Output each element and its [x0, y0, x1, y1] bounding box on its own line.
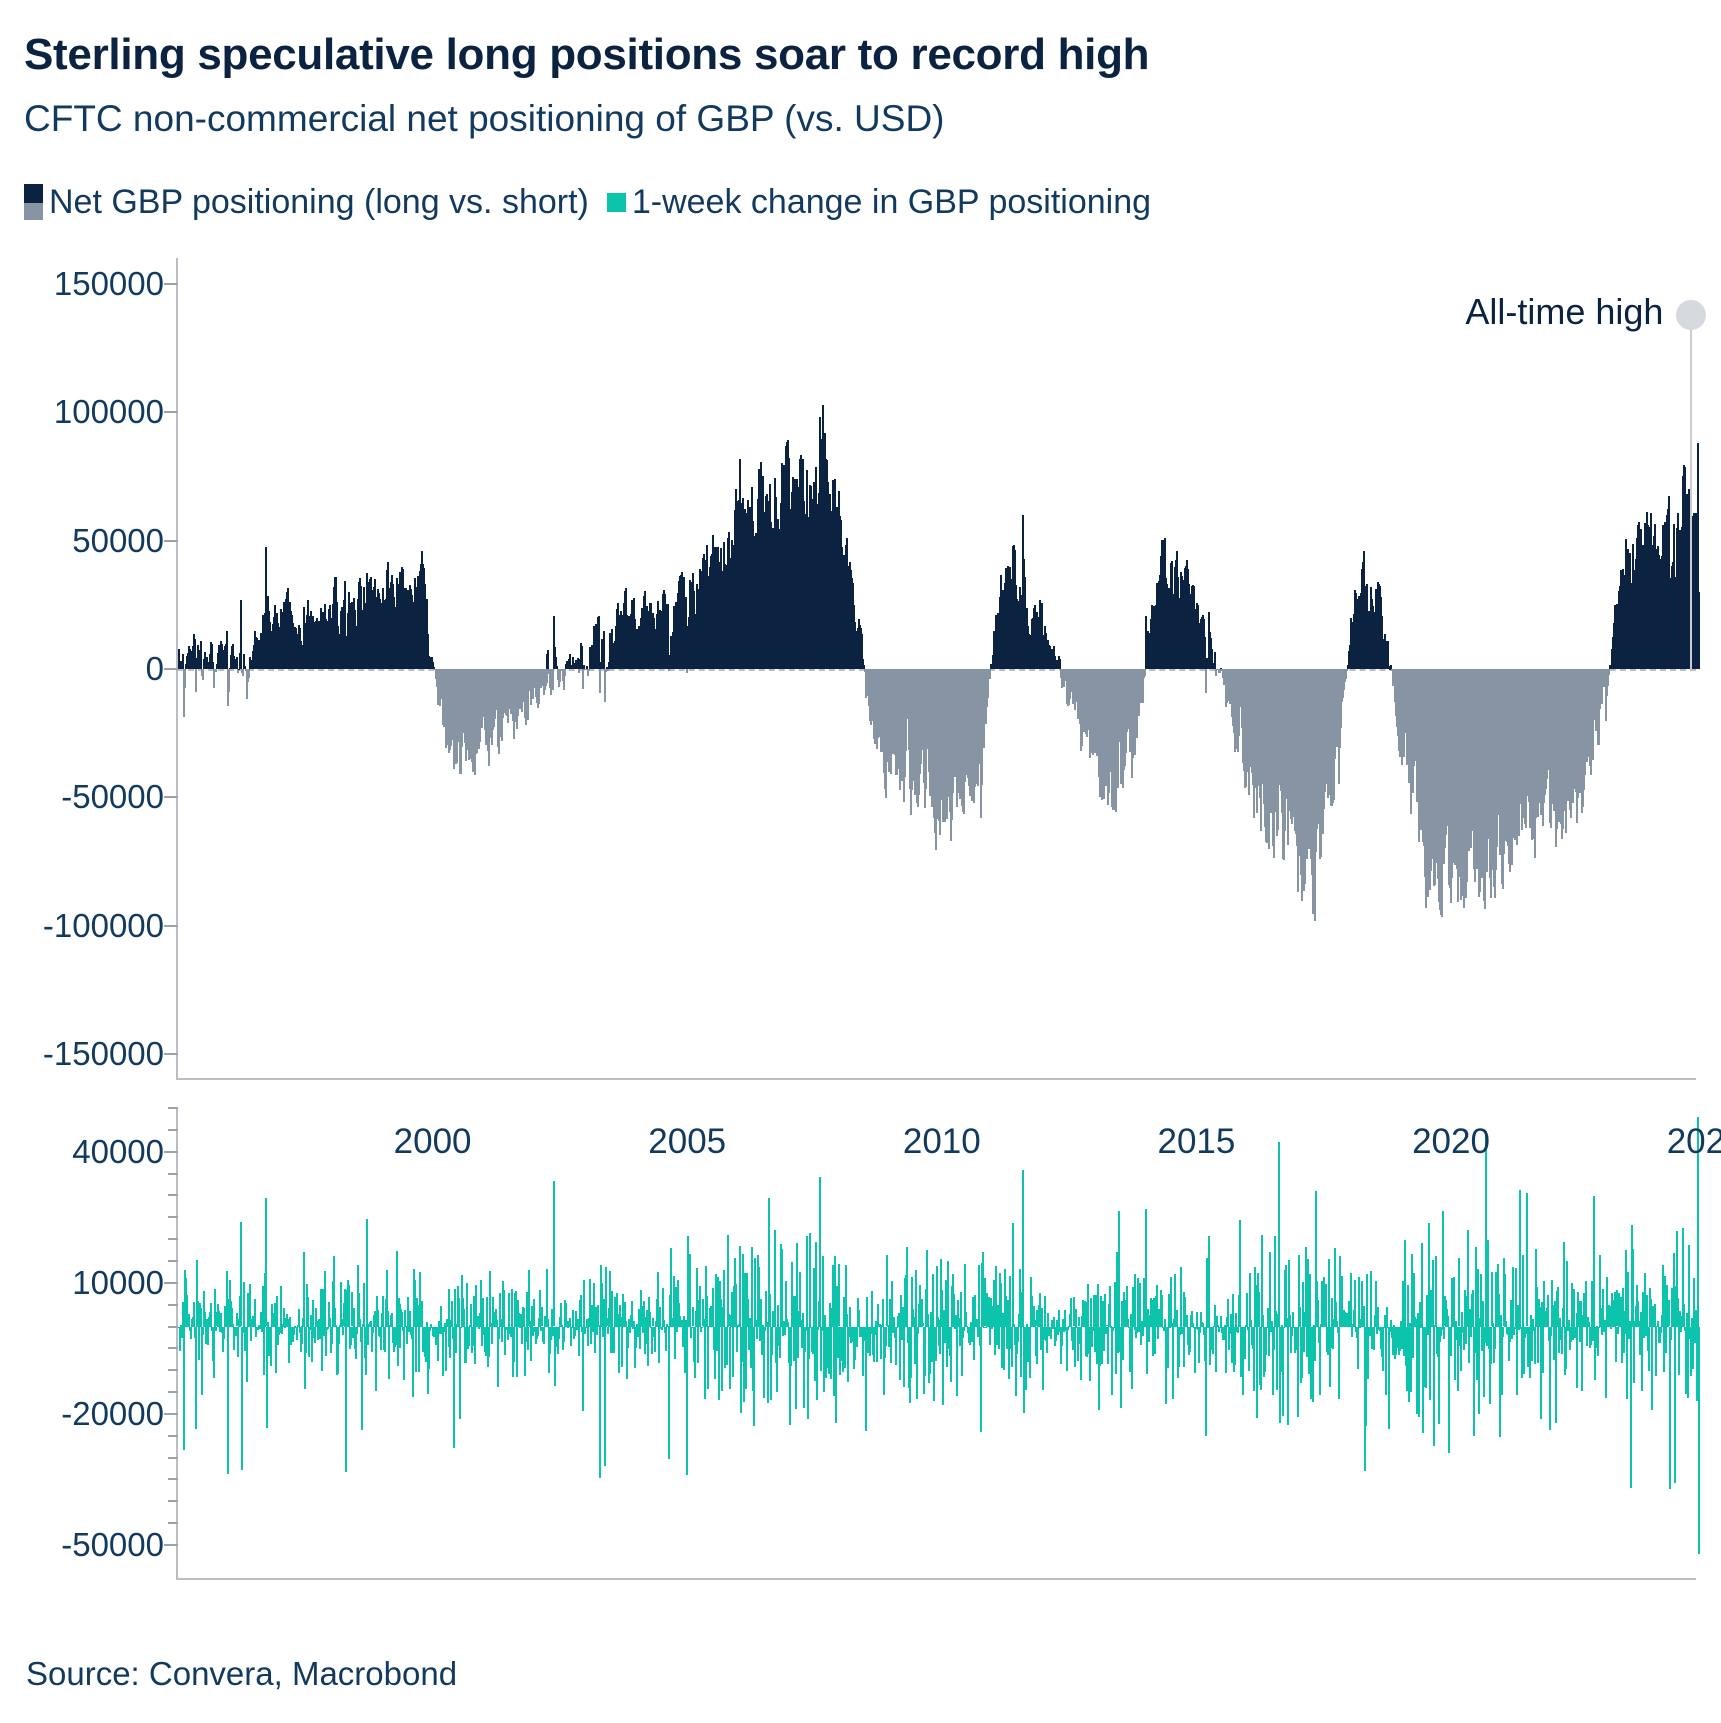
chart-bar: [226, 631, 228, 669]
chart-bar: [193, 1302, 195, 1326]
chart-bar: [1214, 652, 1216, 669]
chart-bar: [1461, 1312, 1463, 1326]
chart-bar: [296, 1327, 298, 1341]
chart-bar: [449, 1327, 451, 1359]
chart-bar: [676, 1327, 678, 1332]
chart-bar: [202, 669, 204, 680]
legend-item-weekly-change[interactable]: 1-week change in GBP positioning: [607, 183, 1151, 222]
x-axis-label: 2005: [648, 1122, 726, 1162]
chart-bar: [1357, 1327, 1359, 1370]
chart-bar: [1610, 1327, 1612, 1330]
chart-bar: [236, 657, 238, 669]
chart-bar: [1258, 1292, 1260, 1326]
chart-bar: [1421, 1243, 1423, 1326]
chart-bar: [751, 1247, 753, 1326]
chart-bar: [1161, 1295, 1163, 1327]
chart-bar: [604, 1327, 606, 1467]
chart-bar: [1003, 1327, 1005, 1371]
chart-bar: [570, 1327, 572, 1347]
chart-bar: [1450, 1327, 1452, 1356]
chart-bar: [838, 1264, 840, 1326]
chart-bar: [1432, 1260, 1434, 1327]
all-time-high-marker[interactable]: [1676, 300, 1706, 330]
chart-bar: [754, 1258, 756, 1327]
chart-bar: [1309, 1274, 1311, 1326]
chart-bar: [468, 1327, 470, 1346]
chart-bar: [547, 650, 549, 669]
y-axis-label: 50000: [72, 522, 178, 560]
y-axis-minor-tick: [168, 1260, 178, 1262]
chart-bar: [190, 1327, 192, 1339]
chart-bar: [885, 1327, 887, 1346]
chart-bar: [718, 1327, 720, 1401]
chart-bar: [541, 1307, 543, 1326]
chart-bar: [1074, 1327, 1076, 1367]
chart-bar: [1350, 1273, 1352, 1327]
chart-bar: [1655, 1327, 1657, 1377]
chart-bar: [403, 1327, 405, 1381]
chart-bar: [1183, 1327, 1185, 1368]
chart-bar: [511, 1289, 513, 1327]
chart-bar: [1670, 1327, 1672, 1341]
chart-bar: [1011, 1327, 1013, 1367]
chart-bar: [1253, 1327, 1255, 1392]
chart-bar: [240, 1222, 242, 1326]
chart-bar: [686, 1327, 688, 1476]
chart-bar: [1186, 1315, 1188, 1327]
chart-bar: [325, 1327, 327, 1357]
chart-bar: [503, 1290, 505, 1327]
y-axis-label: -50000: [61, 1526, 178, 1564]
y-axis-minor-tick: [168, 1522, 178, 1524]
chart-bar: [1526, 1193, 1528, 1326]
chart-bar: [1291, 1327, 1293, 1337]
chart-bar: [345, 1327, 347, 1473]
chart-bar: [686, 669, 688, 673]
chart-bar: [739, 1246, 741, 1326]
chart-bar: [1022, 1170, 1024, 1326]
chart-bar: [451, 1301, 453, 1327]
x-axis-label: 2000: [394, 1122, 472, 1162]
chart-bar: [1359, 1327, 1361, 1328]
y-axis-label: 40000: [72, 1133, 178, 1171]
main-chart-panel: 150000100000500000-50000-100000-150000Al…: [176, 258, 1696, 1080]
chart-bar: [223, 1327, 225, 1339]
chart-bar: [1346, 669, 1348, 671]
chart-bar: [1107, 1327, 1109, 1364]
chart-bar: [342, 1327, 344, 1336]
chart-bar: [1443, 1327, 1445, 1339]
chart-bar: [1654, 1304, 1656, 1327]
chart-bar: [1134, 1274, 1136, 1326]
chart-bar: [774, 1230, 776, 1326]
y-axis-label: -50000: [61, 778, 178, 816]
legend-label-weekly-change: 1-week change in GBP positioning: [632, 183, 1151, 222]
y-axis-minor-tick: [168, 1347, 178, 1349]
chart-bar: [1388, 1327, 1390, 1430]
chart-bar: [690, 1327, 692, 1338]
chart-bar: [498, 1327, 500, 1340]
chart-bar: [1297, 1327, 1299, 1418]
main-plot-area: 150000100000500000-50000-100000-150000Al…: [178, 258, 1696, 1078]
chart-bar: [927, 1314, 929, 1326]
chart-bar: [665, 1327, 667, 1351]
chart-bar: [916, 1327, 918, 1400]
chart-bar: [491, 1327, 493, 1344]
chart-bar: [910, 1327, 912, 1378]
chart-bar: [1665, 1327, 1667, 1354]
chart-bar: [704, 1327, 706, 1399]
legend-swatch-stacked-icon: [24, 184, 43, 220]
chart-bar: [1009, 1276, 1011, 1326]
chart-bar: [1605, 1327, 1607, 1399]
chart-bar: [305, 1327, 307, 1354]
chart-bar: [1627, 1272, 1629, 1326]
chart-bar: [1688, 1245, 1690, 1327]
chart-bar: [1576, 1327, 1578, 1388]
chart-bar: [771, 1327, 773, 1355]
chart-bar: [1651, 1327, 1653, 1411]
y-axis-label: 150000: [54, 265, 178, 303]
chart-bar: [1683, 1304, 1685, 1327]
chart-bar: [276, 1296, 278, 1326]
chart-bar: [353, 1308, 355, 1327]
chart-bar: [1385, 1327, 1387, 1396]
chart-bar: [1630, 1327, 1632, 1488]
chart-bar: [1373, 1327, 1375, 1350]
chart-bar: [1617, 1327, 1619, 1335]
chart-bar: [183, 1327, 185, 1450]
chart-bar: [215, 1327, 217, 1332]
chart-bar: [582, 669, 584, 689]
chart-bar: [886, 1255, 888, 1326]
chart-bar: [806, 1236, 808, 1327]
chart-bar: [397, 1327, 399, 1366]
chart-bar: [455, 1327, 457, 1354]
chart-bar: [1680, 1327, 1682, 1333]
chart-bar: [1261, 1235, 1263, 1327]
chart-bar: [1418, 1327, 1420, 1417]
x-axis-label: 2010: [903, 1122, 981, 1162]
chart-bar: [699, 1286, 701, 1326]
chart-bar: [380, 1327, 382, 1350]
chart-bar: [1194, 1327, 1196, 1374]
chart-bar: [284, 1327, 286, 1328]
chart-bar: [784, 1327, 786, 1335]
chart-bar: [210, 1303, 212, 1326]
y-axis-minor-tick: [168, 1457, 178, 1459]
chart-bar: [1559, 1318, 1561, 1327]
chart-bar: [893, 1317, 895, 1326]
chart-bar: [858, 1310, 860, 1326]
chart-bar: [409, 1311, 411, 1326]
chart-bar: [215, 669, 217, 672]
chart-bar: [1519, 1190, 1521, 1327]
chart-bar: [639, 1327, 641, 1349]
chart-bar: [418, 1327, 420, 1372]
chart-bar: [1154, 1327, 1156, 1354]
chart-bar: [240, 600, 242, 669]
chart-bar: [1148, 1327, 1150, 1342]
chart-bar: [1273, 1327, 1275, 1351]
chart-bar: [265, 1198, 267, 1326]
chart-bar: [307, 1297, 309, 1326]
y-axis-minor-tick: [168, 1194, 178, 1196]
y-axis-minor-tick: [168, 1435, 178, 1437]
chart-bar: [1478, 1327, 1480, 1415]
chart-bar: [1279, 1327, 1281, 1424]
chart-bar: [1189, 1327, 1191, 1352]
chart-legend: Net GBP positioning (long vs. short) 1-w…: [24, 180, 1151, 224]
chart-bar: [363, 1283, 365, 1326]
chart-bar: [463, 1309, 465, 1326]
chart-bar: [779, 1327, 781, 1359]
chart-bar: [1425, 1327, 1427, 1388]
chart-bar: [1363, 1306, 1365, 1327]
subchart-plot-area: 4000010000-20000-50000200020052010201520…: [178, 1108, 1696, 1578]
chart-bar: [1287, 1327, 1289, 1425]
chart-bar: [201, 1327, 203, 1396]
chart-bar: [314, 1327, 316, 1343]
chart-bar: [207, 1327, 209, 1345]
chart-bar: [399, 1327, 401, 1349]
chart-bar: [1170, 1277, 1172, 1327]
chart-bar: [973, 1327, 975, 1360]
chart-bar: [195, 1327, 197, 1429]
chart-bar: [521, 1327, 523, 1344]
chart-bar: [1390, 1320, 1392, 1327]
chart-bar: [1407, 1285, 1409, 1326]
chart-bar: [195, 669, 197, 692]
chart-bar: [1598, 1327, 1600, 1328]
chart-bar: [559, 669, 561, 682]
chart-bar: [1668, 1300, 1670, 1326]
chart-bar: [1319, 1327, 1321, 1395]
chart-bar: [324, 1271, 326, 1326]
chart-bar: [504, 1327, 506, 1356]
chart-bar: [652, 1318, 654, 1327]
y-axis-label: -150000: [43, 1035, 178, 1073]
chart-bar: [1260, 1327, 1262, 1391]
chart-bar: [546, 669, 548, 683]
chart-bar: [1573, 1289, 1575, 1326]
chart-bar: [280, 1286, 282, 1327]
chart-bar: [611, 1291, 613, 1326]
legend-label-net-positioning: Net GBP positioning (long vs. short): [49, 183, 589, 222]
legend-item-net-positioning[interactable]: Net GBP positioning (long vs. short): [24, 183, 589, 222]
chart-bar: [1059, 659, 1061, 669]
chart-bar: [387, 1311, 389, 1326]
chart-bar: [642, 1327, 644, 1334]
chart-bar: [537, 1327, 539, 1337]
chart-bar: [1633, 1327, 1635, 1383]
chart-bar: [184, 669, 186, 688]
chart-bar: [694, 1327, 696, 1379]
page-subtitle: CFTC non-commercial net positioning of G…: [24, 98, 945, 140]
chart-bar: [1127, 1319, 1129, 1327]
chart-bar: [1276, 1327, 1278, 1391]
chart-bar: [1227, 1299, 1229, 1327]
chart-bar: [1237, 1327, 1239, 1333]
chart-bar: [388, 1327, 390, 1379]
chart-bar: [849, 1307, 851, 1327]
chart-bar: [582, 1327, 584, 1412]
chart-bar: [488, 1327, 490, 1357]
chart-bar: [1208, 1236, 1210, 1326]
chart-bar: [248, 669, 250, 678]
chart-bar: [415, 1327, 417, 1373]
y-axis-minor-tick: [168, 1304, 178, 1306]
chart-bar: [1230, 1314, 1232, 1326]
chart-bar: [903, 1327, 905, 1388]
chart-bar: [1608, 669, 1610, 675]
chart-bar: [1176, 1310, 1178, 1327]
chart-bar: [802, 1313, 804, 1326]
chart-bar: [404, 1310, 406, 1326]
chart-bar: [1303, 1327, 1305, 1352]
chart-bar: [202, 1327, 204, 1336]
chart-bar: [421, 1301, 423, 1327]
chart-bar: [960, 1292, 962, 1326]
chart-bar: [553, 1181, 555, 1326]
chart-bar: [1249, 1273, 1251, 1327]
chart-bar: [1547, 1295, 1549, 1326]
chart-bar: [1470, 1327, 1472, 1338]
chart-bar: [1080, 1327, 1082, 1381]
chart-bar: [1139, 1283, 1141, 1326]
chart-bar: [489, 1271, 491, 1326]
chart-bar: [726, 1327, 728, 1365]
y-axis-label: -20000: [61, 1395, 178, 1433]
chart-bar: [523, 1308, 525, 1327]
chart-bar: [384, 1327, 386, 1352]
chart-bar: [188, 1314, 190, 1326]
chart-bar: [991, 1327, 993, 1329]
chart-bar: [543, 1327, 545, 1345]
chart-bar: [1382, 1327, 1384, 1371]
chart-bar: [939, 1327, 941, 1355]
chart-bar: [1669, 1327, 1671, 1489]
chart-bar: [478, 1327, 480, 1329]
source-note: Source: Convera, Macrobond: [26, 1655, 457, 1693]
chart-bar: [1053, 1317, 1055, 1326]
chart-bar: [563, 1327, 565, 1343]
chart-bar: [1550, 1327, 1552, 1336]
chart-bar: [1078, 1317, 1080, 1327]
chart-bar: [558, 1327, 560, 1340]
chart-bar: [533, 1299, 535, 1327]
y-axis-label: 0: [146, 650, 178, 688]
chart-bar: [1017, 1327, 1019, 1343]
chart-bar: [965, 1312, 967, 1326]
chart-bar: [445, 1327, 447, 1371]
chart-bar: [1453, 1277, 1455, 1326]
x-axis-label: 2020: [1412, 1122, 1490, 1162]
chart-bar: [348, 1285, 350, 1326]
chart-bar: [956, 1327, 958, 1397]
chart-bar: [935, 1327, 937, 1362]
chart-bar: [1097, 1284, 1099, 1327]
chart-bar: [597, 1305, 599, 1327]
chart-bar: [1075, 1309, 1077, 1326]
legend-swatch-teal-icon: [607, 193, 626, 212]
chart-bar: [692, 1307, 694, 1326]
chart-bar: [412, 1327, 414, 1397]
chart-bar: [1386, 1307, 1388, 1326]
chart-bar: [1131, 1327, 1133, 1390]
chart-bar: [1157, 1327, 1159, 1340]
chart-bar: [1144, 669, 1146, 676]
y-axis-minor-tick: [168, 1391, 178, 1393]
chart-bar: [1020, 1327, 1022, 1378]
chart-bar: [938, 1320, 940, 1327]
chart-bar: [1328, 1259, 1330, 1326]
chart-bar: [1180, 1267, 1182, 1327]
chart-bar: [689, 1254, 691, 1326]
chart-bar: [270, 1327, 272, 1367]
chart-bar: [727, 1235, 729, 1327]
chart-bar: [765, 1291, 767, 1327]
chart-bar: [1332, 1327, 1334, 1350]
chart-bar: [1047, 1313, 1049, 1326]
chart-bar: [1504, 1274, 1506, 1327]
chart-bar: [220, 1313, 222, 1326]
chart-bar: [1586, 1327, 1588, 1347]
chart-bar: [569, 1318, 571, 1327]
chart-bar: [516, 1327, 518, 1377]
chart-bar: [649, 1312, 651, 1327]
chart-bar: [486, 1297, 488, 1326]
chart-bar: [817, 1327, 819, 1330]
all-time-high-label: All-time high: [1465, 291, 1663, 333]
y-axis-minor-tick: [168, 1478, 178, 1480]
chart-bar: [706, 1296, 708, 1326]
chart-bar: [1465, 1327, 1467, 1344]
chart-bar: [1012, 1223, 1014, 1326]
chart-bar: [1235, 1313, 1237, 1326]
chart-bar: [663, 1320, 665, 1327]
chart-bar: [375, 1327, 377, 1392]
chart-bar: [947, 1261, 949, 1327]
chart-bar: [552, 669, 554, 690]
chart-bar: [1205, 1327, 1207, 1436]
y-axis-minor-tick: [168, 1216, 178, 1218]
chart-bar: [963, 1327, 965, 1331]
y-axis-minor-tick: [168, 1238, 178, 1240]
chart-bar: [401, 1312, 403, 1327]
chart-bar: [454, 1289, 456, 1327]
chart-bar: [546, 1269, 548, 1327]
chart-bar: [1387, 641, 1389, 669]
chart-bar: [797, 1327, 799, 1359]
chart-bar: [250, 1327, 252, 1341]
chart-bar: [767, 1327, 769, 1403]
chart-bar: [1531, 1327, 1533, 1362]
chart-bar: [303, 1252, 305, 1326]
chart-bar: [1404, 1240, 1406, 1327]
chart-bar: [745, 1327, 747, 1389]
chart-bar: [1477, 1269, 1479, 1327]
chart-bar: [1282, 1327, 1284, 1417]
chart-bar: [604, 669, 606, 702]
chart-bar: [329, 1318, 331, 1327]
chart-bar: [1044, 1296, 1046, 1327]
chart-bar: [781, 1249, 783, 1327]
chart-bar: [382, 1296, 384, 1327]
chart-bar: [213, 669, 215, 688]
chart-bar: [721, 1327, 723, 1392]
chart-bar: [1581, 1327, 1583, 1391]
